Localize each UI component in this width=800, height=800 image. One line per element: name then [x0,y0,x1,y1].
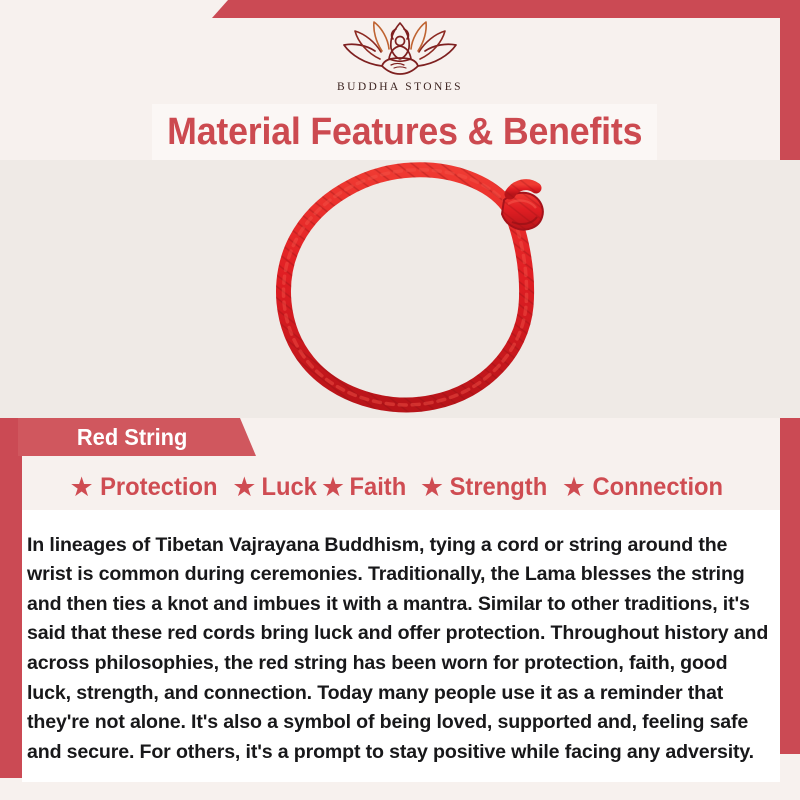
benefit-item-protection: ★ Protection [69,473,220,502]
star-icon: ★ [232,474,256,501]
red-string-bracelet-image [246,160,566,418]
page-title-plate: Material Features & Benefits [152,104,657,160]
description-text: In lineages of Tibetan Vajrayana Buddhis… [27,531,775,768]
star-icon: ★ [69,474,93,501]
star-icon: ★ [420,474,444,501]
benefit-item-faith: ★ Faith [321,473,408,502]
brand-wordmark: BUDDHA STONES [337,81,463,93]
material-name: Red String [77,424,187,451]
benefit-label: Faith [350,473,407,502]
material-name-ribbon: Red String [18,418,256,456]
bracelet-knot [502,185,543,230]
benefit-label: Luck [261,473,316,502]
poster-canvas: BUDDHA STONES Material Features & Benefi… [0,0,800,800]
benefit-label: Strength [450,473,548,502]
brand-logo: BUDDHA STONES [0,18,800,104]
benefit-item-connection: ★ Connection [562,473,727,502]
benefit-label: Protection [100,473,217,502]
star-icon: ★ [321,474,345,501]
benefits-list: ★ Protection ★ Luck ★ Faith ★ Strength ★… [22,466,774,508]
page-title: Material Features & Benefits [167,111,642,154]
description-panel: In lineages of Tibetan Vajrayana Buddhis… [22,510,780,782]
benefit-item-luck: ★ Luck [232,473,318,502]
benefit-label: Connection [592,473,723,502]
benefit-item-strength: ★ Strength [420,473,550,502]
decorative-bar-top [0,0,800,18]
star-icon: ★ [562,474,586,501]
lotus-meditation-figure-icon [334,18,466,80]
product-photo [0,160,800,418]
